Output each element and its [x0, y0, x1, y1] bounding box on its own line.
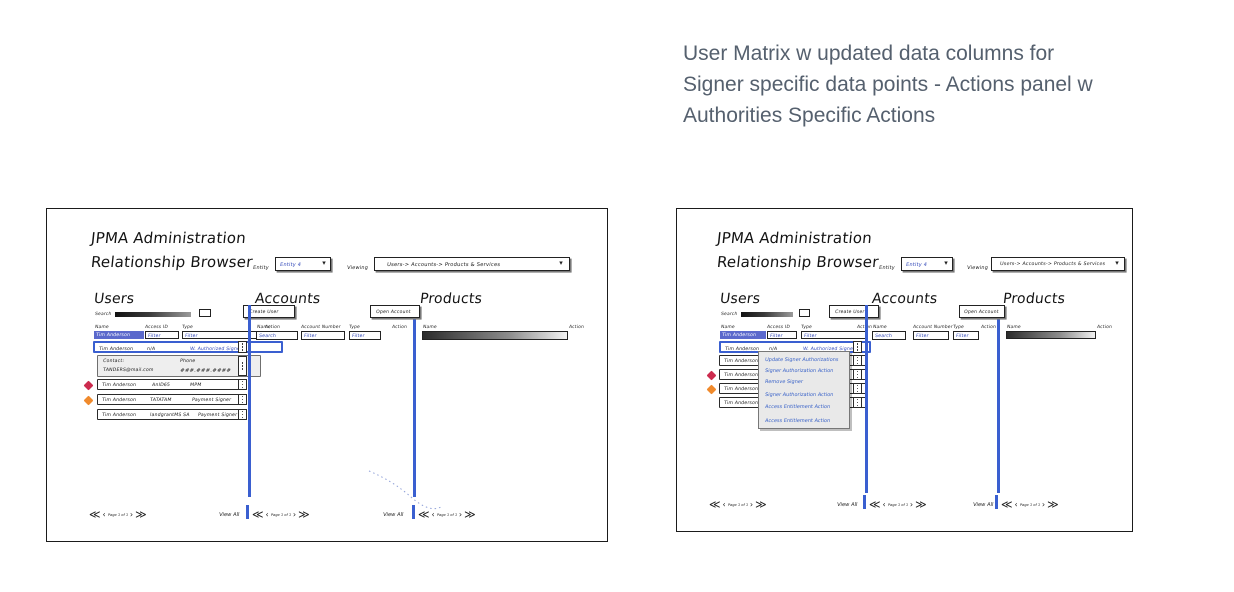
column-separator — [413, 305, 416, 497]
column-separator — [248, 305, 251, 497]
row-actions-kebab-icon[interactable] — [853, 383, 862, 394]
row-actions-kebab-icon[interactable] — [853, 341, 862, 353]
accounts-col-number: Account Number — [301, 325, 341, 330]
app-title: JPMA Administration — [716, 229, 873, 247]
entity-value: Entity 4 — [906, 262, 928, 268]
accounts-filter-number[interactable]: Filter — [913, 331, 949, 340]
detail-contact-label: Contact: — [103, 359, 125, 364]
pagination-accounts[interactable]: ≪ ‹ Page 1 of 1 › ≫ — [869, 499, 927, 510]
users-search-input[interactable] — [741, 312, 793, 317]
accounts-heading: Accounts — [871, 291, 938, 307]
products-col-name: Name — [1007, 325, 1021, 330]
users-search-icon[interactable] — [199, 309, 211, 317]
products-col-action: Action — [569, 325, 585, 330]
chevrons-right-icon[interactable]: ≫ — [464, 509, 476, 520]
column-separator — [865, 305, 868, 493]
page-label: Page 1 of 1 — [436, 513, 457, 517]
menu-item-remove-signer[interactable]: Remove Signer — [765, 379, 804, 385]
accounts-search-input[interactable]: Search — [256, 331, 298, 340]
accounts-col-action: Action — [981, 325, 997, 330]
users-filter-name[interactable]: Tim Anderson — [720, 331, 766, 339]
products-col-name: Name — [423, 325, 437, 330]
table-row[interactable]: Tim Anderson n/A W. Authorized Signer 4 — [93, 341, 283, 353]
row-access-id: AnID65 — [152, 383, 171, 388]
viewing-value: Users-> Accounts-> Products & Services — [387, 262, 501, 268]
chevron-right-icon[interactable]: › — [1042, 499, 1045, 510]
entity-select[interactable]: Entity 4 ▾ — [275, 257, 331, 271]
accounts-col-name: Name — [873, 325, 887, 330]
wireframe-panel-left: JPMA Administration Relationship Browser… — [46, 208, 608, 542]
row-access-id: TATATAM — [150, 398, 172, 403]
row-actions-kebab-icon[interactable] — [238, 356, 247, 376]
users-search-input[interactable] — [115, 312, 191, 317]
users-col-accessid: Access ID — [767, 325, 791, 330]
pager-separator — [246, 505, 249, 519]
create-user-label: Create User — [249, 310, 279, 315]
row-name: Tim Anderson — [724, 373, 759, 378]
row-name: Tim Anderson — [724, 387, 759, 392]
row-actions-kebab-icon[interactable] — [238, 379, 247, 390]
chevron-down-icon: ▾ — [559, 259, 563, 267]
row-marker-red-icon — [84, 381, 94, 391]
table-row[interactable]: Tim Anderson TATATAM Payment Signer — [97, 394, 247, 405]
row-actions-kebab-icon[interactable] — [238, 394, 247, 405]
pagination-products[interactable]: ≪ ‹ Page 1 of 1 › ≫ — [1001, 499, 1059, 510]
entity-value: Entity 4 — [280, 262, 302, 268]
chevrons-right-icon[interactable]: ≫ — [915, 499, 927, 510]
row-actions-kebab-icon[interactable] — [853, 355, 862, 366]
page-title: Relationship Browser — [716, 253, 880, 271]
user-detail-panel: Contact: TANDERS@mail.com Phone ###.###.… — [97, 355, 261, 377]
create-user-label: Create User — [835, 310, 865, 315]
page-label: Page 1 of 1 — [1019, 503, 1040, 507]
users-heading: Users — [93, 291, 135, 307]
users-search-label: Search — [95, 312, 112, 317]
accounts-search-value: Search — [259, 334, 277, 339]
chevrons-left-icon[interactable]: ≪ — [89, 509, 101, 520]
wireframe-sheet-right: JPMA Administration Relationship Browser… — [677, 209, 1132, 531]
chevron-left-icon[interactable]: ‹ — [103, 509, 106, 520]
page-label: Page 1 of 1 — [270, 513, 291, 517]
viewing-select[interactable]: Users-> Accounts-> Products & Services ▾ — [991, 257, 1125, 271]
accounts-filter-number-value: Filter — [916, 334, 929, 339]
users-col-type: Type — [801, 325, 813, 330]
viewing-label: Viewing — [967, 265, 989, 271]
row-name: Tim Anderson — [102, 383, 137, 388]
users-filter-type-value: Filter — [804, 334, 817, 339]
users-filter-accessid[interactable]: Filter — [767, 331, 797, 339]
chevron-down-icon: ▾ — [1115, 259, 1119, 267]
row-type: Payment Signer — [198, 413, 238, 418]
pagination-products[interactable]: ≪ ‹ Page 1 of 1 › ≫ — [418, 509, 476, 520]
chevrons-right-icon[interactable]: ≫ — [298, 509, 310, 520]
users-search-icon[interactable] — [799, 309, 810, 317]
menu-item-signer-authorization-action-1[interactable]: Signer Authorization Action — [765, 368, 834, 374]
users-search-label: Search — [721, 312, 738, 317]
row-actions-kebab-icon[interactable] — [238, 409, 247, 420]
users-filter-type-value: Filter — [185, 334, 198, 339]
accounts-filter-type-value: Filter — [352, 334, 365, 339]
chevrons-left-icon[interactable]: ≪ — [709, 499, 721, 510]
viewing-label: Viewing — [347, 265, 369, 271]
page-label: Page 1 of 1 — [727, 503, 748, 507]
table-row[interactable]: Tim Anderson landgrantMS SA Payment Sign… — [97, 409, 247, 420]
app-title: JPMA Administration — [90, 229, 247, 247]
actions-dropdown-menu[interactable]: Update Signer Authorizations Signer Auth… — [758, 351, 850, 429]
chevron-left-icon[interactable]: ‹ — [266, 509, 269, 520]
menu-item-access-entitlement-action-1[interactable]: Access Entitlement Action — [765, 404, 831, 410]
chevrons-right-icon[interactable]: ≫ — [135, 509, 147, 520]
table-row[interactable]: Tim Anderson AnID65 MPM — [97, 379, 247, 390]
users-col-name: Name — [721, 325, 735, 330]
chevron-right-icon[interactable]: › — [750, 499, 753, 510]
view-all-accounts[interactable]: View All — [383, 512, 404, 518]
view-all-accounts[interactable]: View All — [973, 502, 994, 508]
page-label: Page 1 of 1 — [107, 513, 128, 517]
detail-phone-value: ###.###.#### — [180, 368, 232, 374]
chevron-left-icon[interactable]: ‹ — [723, 499, 726, 510]
users-heading: Users — [719, 291, 761, 307]
row-actions-kebab-icon[interactable] — [853, 369, 862, 380]
entity-label: Entity — [879, 265, 896, 271]
chevron-left-icon[interactable]: ‹ — [432, 509, 435, 520]
annotation-squiggle — [367, 467, 447, 511]
menu-item-signer-authorization-action-2[interactable]: Signer Authorization Action — [765, 392, 834, 398]
users-filter-accessid-value: Filter — [770, 334, 783, 339]
accounts-filter-type[interactable]: Filter — [349, 331, 381, 340]
accounts-filter-number[interactable]: Filter — [301, 331, 345, 340]
products-search-input[interactable] — [1006, 331, 1096, 339]
accounts-filter-type-value: Filter — [956, 334, 969, 339]
row-name: Tim Anderson — [725, 347, 760, 352]
open-account-label: Open Account — [376, 310, 411, 315]
row-name: Tim Anderson — [724, 359, 759, 364]
chevrons-left-icon[interactable]: ≪ — [418, 509, 430, 520]
chevron-left-icon[interactable]: ‹ — [1015, 499, 1018, 510]
viewing-select[interactable]: Users-> Accounts-> Products & Services ▾ — [374, 257, 570, 271]
entity-label: Entity — [253, 265, 270, 271]
pager-separator — [995, 495, 998, 509]
view-all-users[interactable]: View All — [219, 512, 240, 518]
users-col-name: Name — [95, 325, 109, 330]
row-access-id: n/A — [147, 347, 156, 352]
accounts-col-type: Type — [349, 325, 361, 330]
users-filter-name-value: Tim Anderson — [96, 333, 131, 338]
chevrons-right-icon[interactable]: ≫ — [755, 499, 767, 510]
row-type: Payment Signer — [192, 398, 232, 403]
accounts-filter-type[interactable]: Filter — [953, 331, 979, 340]
chevrons-left-icon[interactable]: ≪ — [1001, 499, 1013, 510]
chevrons-left-icon[interactable]: ≪ — [869, 499, 881, 510]
entity-select[interactable]: Entity 4 ▾ — [901, 257, 953, 271]
accounts-col-action: Action — [392, 325, 408, 330]
row-access-id: landgrantMS SA — [150, 413, 190, 418]
chevron-right-icon[interactable]: › — [293, 509, 296, 520]
pagination-users[interactable]: ≪ ‹ Page 1 of 1 › ≫ — [709, 499, 767, 510]
products-heading: Products — [419, 291, 483, 307]
wireframe-sheet-left: JPMA Administration Relationship Browser… — [47, 209, 607, 541]
annotation-heading: User Matrix w updated data columns for S… — [683, 38, 1103, 131]
detail-contact-value: TANDERS@mail.com — [103, 368, 154, 373]
wireframe-panel-right: JPMA Administration Relationship Browser… — [676, 208, 1133, 532]
chevron-down-icon: ▾ — [944, 259, 948, 267]
accounts-col-name: Name — [257, 325, 271, 330]
users-filter-accessid-value: Filter — [148, 334, 161, 339]
accounts-search-value: Search — [875, 334, 893, 339]
slide-canvas: User Matrix w updated data columns for S… — [0, 0, 1234, 592]
products-col-action: Action — [1097, 325, 1113, 330]
accounts-col-type: Type — [953, 325, 965, 330]
open-account-label: Open Account — [964, 310, 999, 315]
detail-phone-label: Phone — [180, 359, 196, 364]
chevron-left-icon[interactable]: ‹ — [883, 499, 886, 510]
view-all-users[interactable]: View All — [837, 502, 858, 508]
pagination-accounts[interactable]: ≪ ‹ Page 1 of 1 › ≫ — [252, 509, 310, 520]
chevron-right-icon[interactable]: › — [130, 509, 133, 520]
row-marker-orange-icon — [84, 396, 94, 406]
pager-separator — [412, 505, 415, 519]
accounts-search-input[interactable]: Search — [872, 331, 906, 340]
page-label: Page 1 of 1 — [887, 503, 908, 507]
row-actions-kebab-icon[interactable] — [238, 341, 247, 353]
row-name: Tim Anderson — [102, 398, 137, 403]
users-filter-name-value: Tim Anderson — [722, 333, 757, 338]
accounts-heading: Accounts — [254, 291, 321, 307]
chevron-down-icon: ▾ — [322, 259, 326, 267]
row-actions-kebab-icon[interactable] — [853, 397, 862, 408]
row-type: MPM — [190, 383, 202, 388]
pagination-users[interactable]: ≪ ‹ Page 1 of 1 › ≫ — [89, 509, 147, 520]
chevrons-left-icon[interactable]: ≪ — [252, 509, 264, 520]
menu-item-access-entitlement-action-2[interactable]: Access Entitlement Action — [765, 418, 831, 424]
menu-item-update-signer-authorizations[interactable]: Update Signer Authorizations — [765, 357, 839, 363]
users-filter-accessid[interactable]: Filter — [145, 331, 179, 339]
row-marker-orange-icon — [707, 385, 717, 395]
page-title: Relationship Browser — [90, 253, 254, 271]
row-marker-red-icon — [707, 371, 717, 381]
products-heading: Products — [1002, 291, 1066, 307]
row-name: Tim Anderson — [724, 401, 759, 406]
chevron-right-icon[interactable]: › — [910, 499, 913, 510]
row-name: Tim Anderson — [99, 347, 134, 352]
users-col-type: Type — [182, 325, 194, 330]
accounts-col-number: Account Number — [913, 325, 953, 330]
open-account-button[interactable]: Open Account — [370, 305, 420, 318]
open-account-button[interactable]: Open Account — [959, 305, 1005, 318]
chevron-right-icon[interactable]: › — [459, 509, 462, 520]
viewing-value: Users-> Accounts-> Products & Services — [1000, 262, 1106, 267]
products-search-input[interactable] — [422, 331, 568, 340]
row-name: Tim Anderson — [102, 413, 137, 418]
users-filter-type[interactable]: Filter — [801, 331, 867, 339]
accounts-filter-number-value: Filter — [304, 334, 317, 339]
chevrons-right-icon[interactable]: ≫ — [1047, 499, 1059, 510]
pager-separator — [863, 495, 866, 509]
users-filter-name[interactable]: Tim Anderson — [94, 331, 144, 339]
users-col-accessid: Access ID — [145, 325, 169, 330]
column-separator — [997, 305, 1000, 493]
